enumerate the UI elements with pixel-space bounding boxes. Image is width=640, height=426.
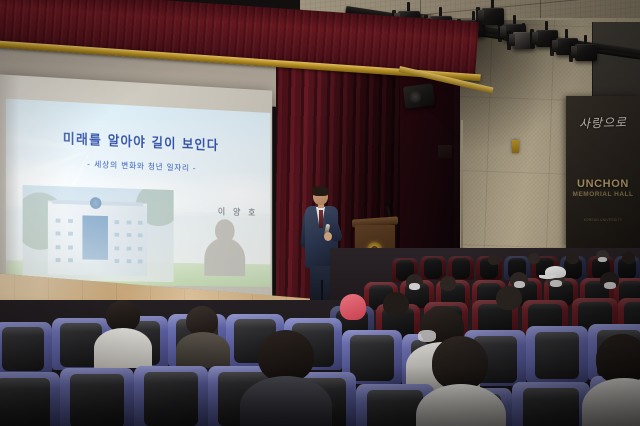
slide-building-entrance (82, 215, 108, 260)
white-cap-icon (545, 266, 566, 278)
banner-subtitle-text: MEMORIAL HALL (566, 191, 640, 198)
seat (526, 326, 588, 382)
wall-conduit (461, 120, 463, 250)
seat (0, 372, 60, 426)
banner-fine-print: KOREAN UNIVERSITY (566, 218, 640, 222)
seat (0, 322, 52, 374)
slide-building-photo (23, 185, 174, 283)
auditorium-photo: 사랑으로 UNCHON MEMORIAL HALL KOREAN UNIVERS… (0, 0, 640, 426)
unchon-memorial-hall-banner: 사랑으로 UNCHON MEMORIAL HALL KOREAN UNIVERS… (566, 96, 640, 248)
slide-building-crest-icon (90, 197, 101, 209)
seat (134, 366, 208, 426)
stage-light-icon (575, 44, 597, 61)
banner-calligraphy: 사랑으로 (566, 113, 640, 133)
wall-fixture-icon (512, 140, 519, 153)
slide-person-silhouette (205, 219, 246, 277)
slide-presenter-name: 이 양 호 (218, 205, 258, 218)
presentation-slide: 미래를 알아야 길이 보인다 - 세상의 변화와 청년 일자리 - (6, 99, 271, 287)
hanging-speaker-icon (403, 83, 435, 108)
slide-building (48, 201, 148, 277)
seat (60, 368, 134, 426)
banner-brand-text: UNCHON (566, 178, 640, 190)
seat (420, 256, 446, 280)
seat (512, 382, 590, 426)
stage-wall-box (438, 145, 452, 158)
